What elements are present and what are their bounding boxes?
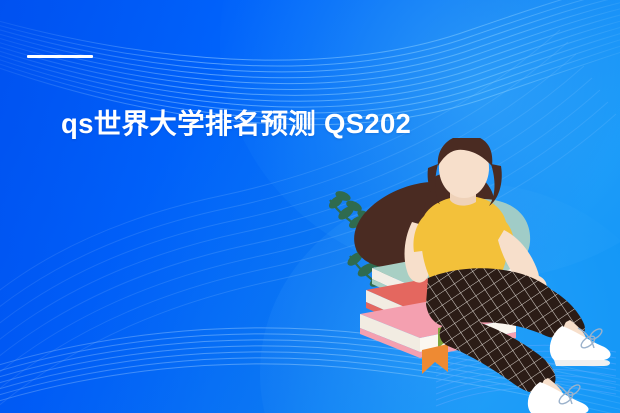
- banner-graphic: qs世界大学排名预测 QS202: [0, 0, 620, 413]
- shoe-lower: [528, 382, 589, 413]
- accent-rule: [27, 55, 93, 58]
- illustration-svg: [316, 138, 620, 413]
- left-shade-overlay: [0, 0, 300, 413]
- illustration-woman-on-books: [316, 138, 620, 413]
